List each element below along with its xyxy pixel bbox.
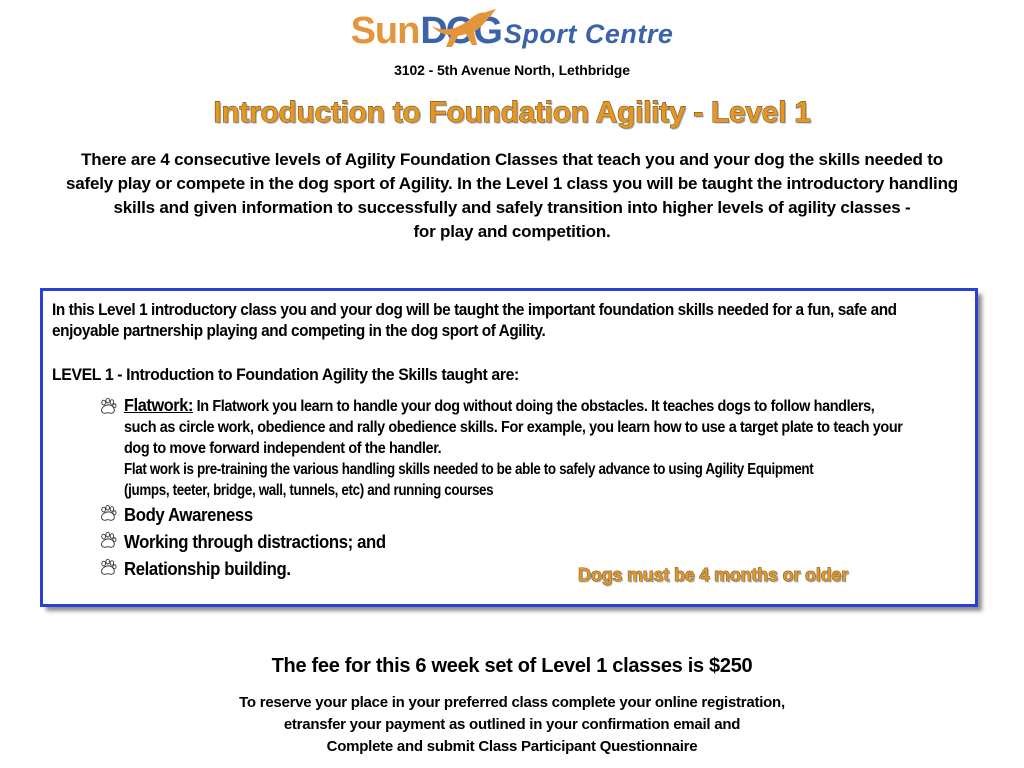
- instruction-line-2: etransfer your payment as outlined in yo…: [0, 714, 1024, 736]
- brand-logo: Sun DOG Sport Centre: [0, 12, 1024, 50]
- logo-lockup: Sun DOG Sport Centre: [351, 12, 674, 50]
- instruction-line-3: Complete and submit Class Participant Qu…: [0, 736, 1024, 758]
- instruction-line-1: To reserve your place in your preferred …: [0, 692, 1024, 714]
- list-item: Body Awareness: [52, 502, 963, 528]
- list-item: Flatwork: In Flatwork you learn to handl…: [52, 395, 963, 501]
- flatwork-label: Flatwork:: [124, 395, 193, 415]
- skills-list: Flatwork: In Flatwork you learn to handl…: [52, 395, 963, 582]
- age-requirement-note: Dogs must be 4 months or older: [578, 565, 848, 586]
- paw-print-icon: [99, 397, 117, 415]
- bullet-content: Body Awareness: [124, 502, 904, 528]
- paw-print-icon: [99, 504, 117, 522]
- logo-dog-group: DOG: [420, 12, 501, 50]
- bullet-content: Flatwork: In Flatwork you learn to handl…: [124, 395, 904, 501]
- fee-line: The fee for this 6 week set of Level 1 c…: [0, 655, 1024, 678]
- skills-heading: LEVEL 1 - Introduction to Foundation Agi…: [52, 365, 963, 385]
- intro-closing: for play and competition.: [413, 222, 610, 241]
- business-address: 3102 - 5th Avenue North, Lethbridge: [0, 62, 1024, 78]
- paw-print-icon: [99, 531, 117, 549]
- logo-dog-text: DOG: [420, 10, 501, 52]
- intro-body: There are 4 consecutive levels of Agilit…: [66, 150, 958, 217]
- logo-sun-text: Sun: [351, 12, 420, 50]
- bullet-content: Working through distractions; and: [124, 529, 904, 555]
- intro-paragraph: There are 4 consecutive levels of Agilit…: [62, 148, 962, 244]
- logo-tagline: Sport Centre: [504, 21, 674, 48]
- skills-box-content: In this Level 1 introductory class you a…: [43, 291, 975, 604]
- registration-instructions: To reserve your place in your preferred …: [0, 692, 1024, 758]
- paw-print-icon: [99, 558, 117, 576]
- flatwork-continuation: Flat work is pre-training the various ha…: [124, 459, 850, 501]
- box-lead-paragraph: In this Level 1 introductory class you a…: [52, 300, 963, 342]
- flatwork-description: In Flatwork you learn to handle your dog…: [124, 398, 903, 457]
- list-item: Working through distractions; and: [52, 529, 963, 555]
- skills-box: In this Level 1 introductory class you a…: [40, 288, 978, 607]
- page-title: Introduction to Foundation Agility - Lev…: [0, 96, 1024, 130]
